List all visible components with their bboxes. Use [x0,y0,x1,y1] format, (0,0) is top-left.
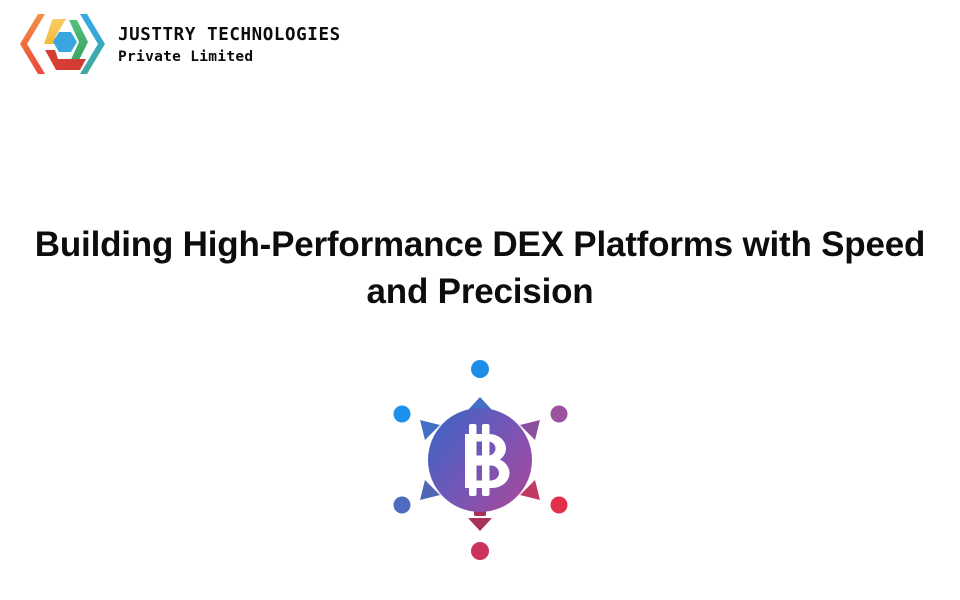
brand-text-block: JUSTTRY TECHNOLOGIES Private Limited [118,21,341,67]
dot-upper-left [394,406,411,423]
dot-upper-right [551,406,568,423]
dot-top [471,360,489,378]
bitcoin-network-hub-icon [370,352,590,577]
dot-lower-left [394,497,411,514]
dot-lower-right [551,497,568,514]
company-name: JUSTTRY TECHNOLOGIES [118,25,341,45]
page-title: Building High-Performance DEX Platforms … [0,222,960,316]
company-subtitle: Private Limited [118,49,341,66]
brand-logo-block: JUSTTRY TECHNOLOGIES Private Limited [14,10,341,78]
hexagon-chevron-logo-icon [14,10,106,78]
dot-bottom [471,542,489,560]
